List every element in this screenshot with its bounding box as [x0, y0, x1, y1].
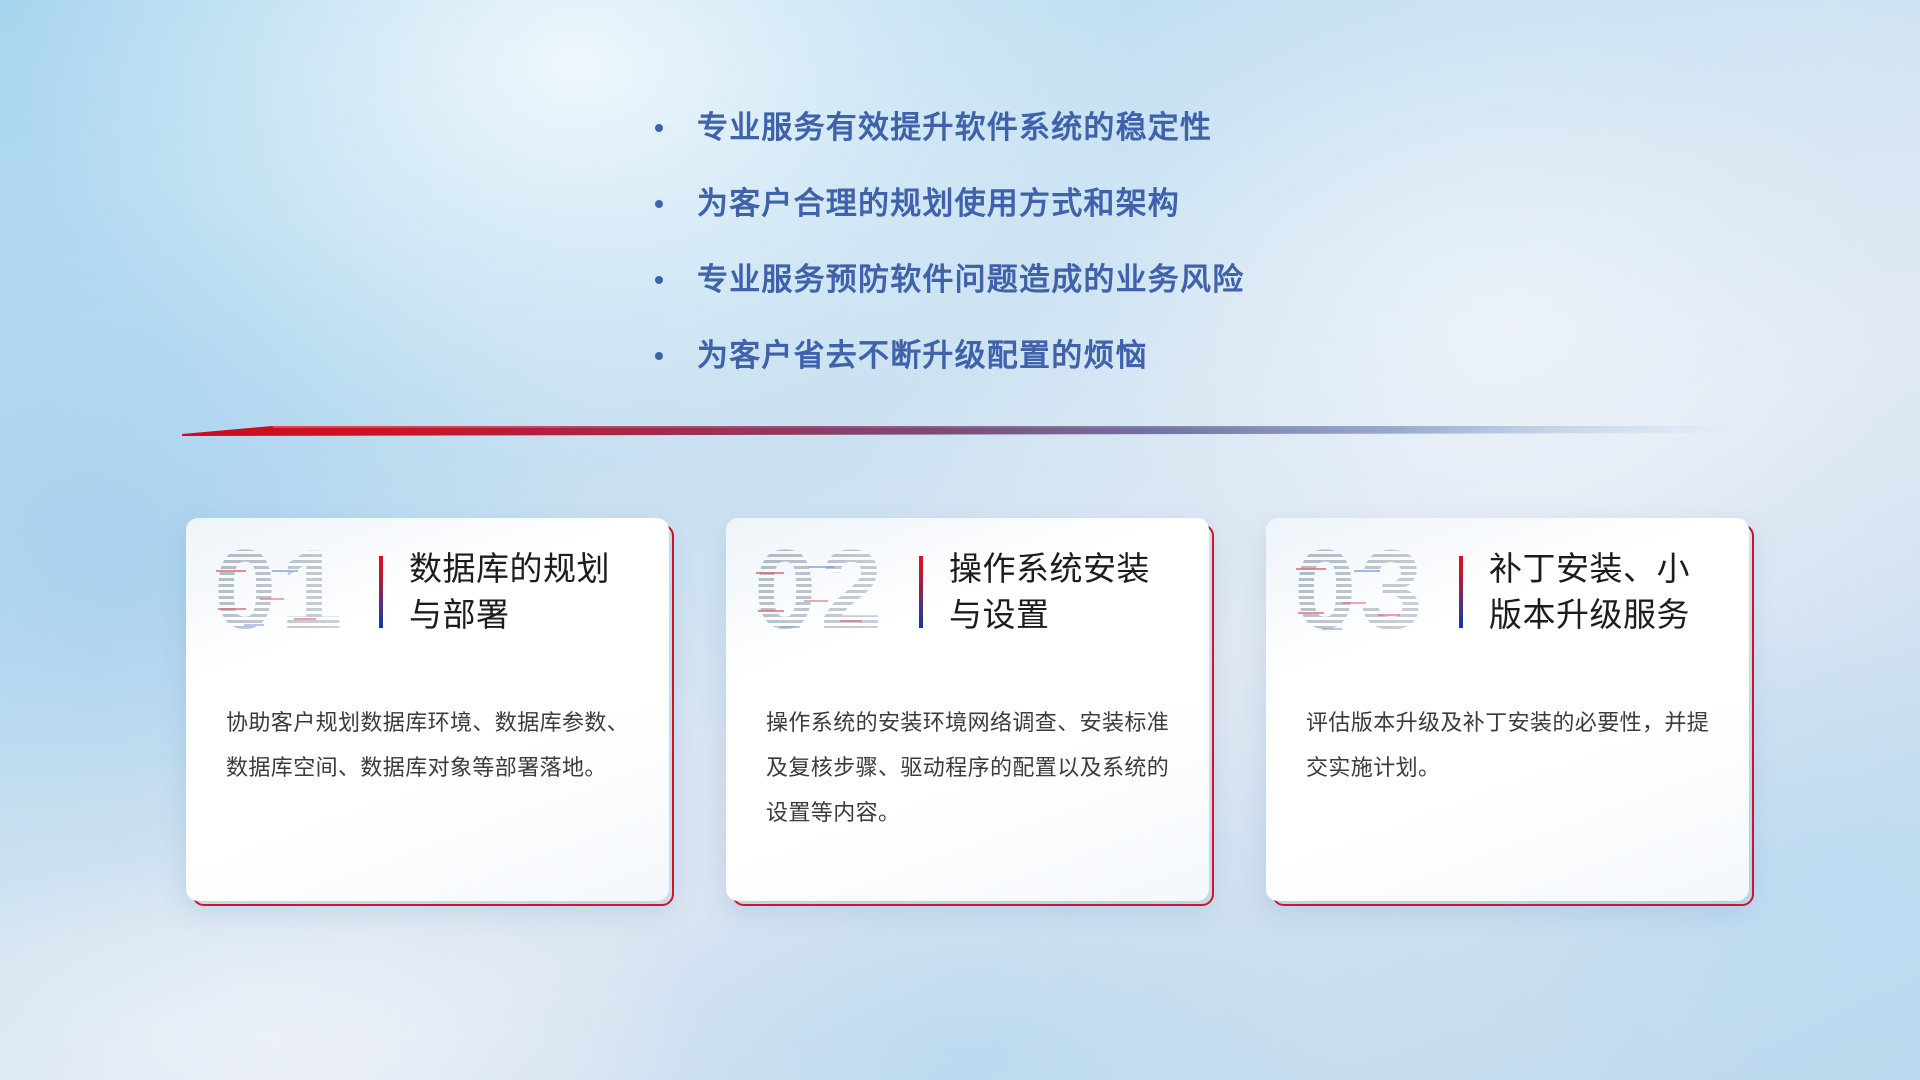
card-surface: 02 02 操作系统安装与设置 操作系统的安装环境网络调查、安装标: [726, 518, 1209, 901]
section-divider: [182, 420, 1742, 442]
service-card-01[interactable]: 01 01 数据库的规划与部署 协助客户规划数据库环境、数据库参数: [186, 518, 669, 901]
bullet-text: 为客户合理的规划使用方式和架构: [697, 181, 1180, 226]
list-item: 专业服务预防软件问题造成的业务风险: [655, 257, 1555, 302]
card-description: 评估版本升级及补丁安装的必要性，并提交实施计划。: [1266, 666, 1749, 790]
list-item: 为客户合理的规划使用方式和架构: [655, 181, 1555, 226]
card-title: 数据库的规划与部署: [409, 546, 639, 638]
card-title-rule: [379, 556, 383, 628]
service-card-02[interactable]: 02 02 操作系统安装与设置 操作系统的安装环境网络调查、安装标: [726, 518, 1209, 901]
list-item: 专业服务有效提升软件系统的稳定性: [655, 105, 1555, 150]
bullet-dot-icon: [655, 352, 663, 360]
service-cards: 01 01 数据库的规划与部署 协助客户规划数据库环境、数据库参数: [186, 518, 1748, 918]
card-number-01-watermark: 01 01: [214, 536, 369, 648]
card-header: 03 03 补丁安装、小版本升级服务: [1266, 518, 1749, 666]
bullet-text: 专业服务预防软件问题造成的业务风险: [697, 257, 1244, 302]
card-description: 操作系统的安装环境网络调查、安装标准及复核步骤、驱动程序的配置以及系统的设置等内…: [726, 666, 1209, 835]
bullet-dot-icon: [655, 200, 663, 208]
svg-text:03: 03: [1294, 536, 1427, 648]
card-header: 01 01 数据库的规划与部署: [186, 518, 669, 666]
service-card-03[interactable]: 03 03 补丁安装、小版本升级服务 评估版本升级及补丁安装的必要: [1266, 518, 1749, 901]
bullet-dot-icon: [655, 124, 663, 132]
svg-text:01: 01: [214, 536, 347, 648]
card-number-02-watermark: 02 02: [754, 536, 909, 648]
card-title-rule: [1459, 556, 1463, 628]
benefits-bullet-list: 专业服务有效提升软件系统的稳定性 为客户合理的规划使用方式和架构 专业服务预防软…: [655, 105, 1555, 409]
card-number-03-watermark: 03 03: [1294, 536, 1449, 648]
card-title: 补丁安装、小版本升级服务: [1489, 546, 1719, 638]
svg-text:02: 02: [754, 536, 887, 648]
bullet-text: 为客户省去不断升级配置的烦恼: [697, 333, 1148, 378]
card-surface: 01 01 数据库的规划与部署 协助客户规划数据库环境、数据库参数: [186, 518, 669, 901]
card-description: 协助客户规划数据库环境、数据库参数、数据库空间、数据库对象等部署落地。: [186, 666, 669, 790]
card-title-rule: [919, 556, 923, 628]
card-surface: 03 03 补丁安装、小版本升级服务 评估版本升级及补丁安装的必要: [1266, 518, 1749, 901]
bullet-text: 专业服务有效提升软件系统的稳定性: [697, 105, 1212, 150]
list-item: 为客户省去不断升级配置的烦恼: [655, 333, 1555, 378]
card-title: 操作系统安装与设置: [949, 546, 1179, 638]
card-header: 02 02 操作系统安装与设置: [726, 518, 1209, 666]
bullet-dot-icon: [655, 276, 663, 284]
